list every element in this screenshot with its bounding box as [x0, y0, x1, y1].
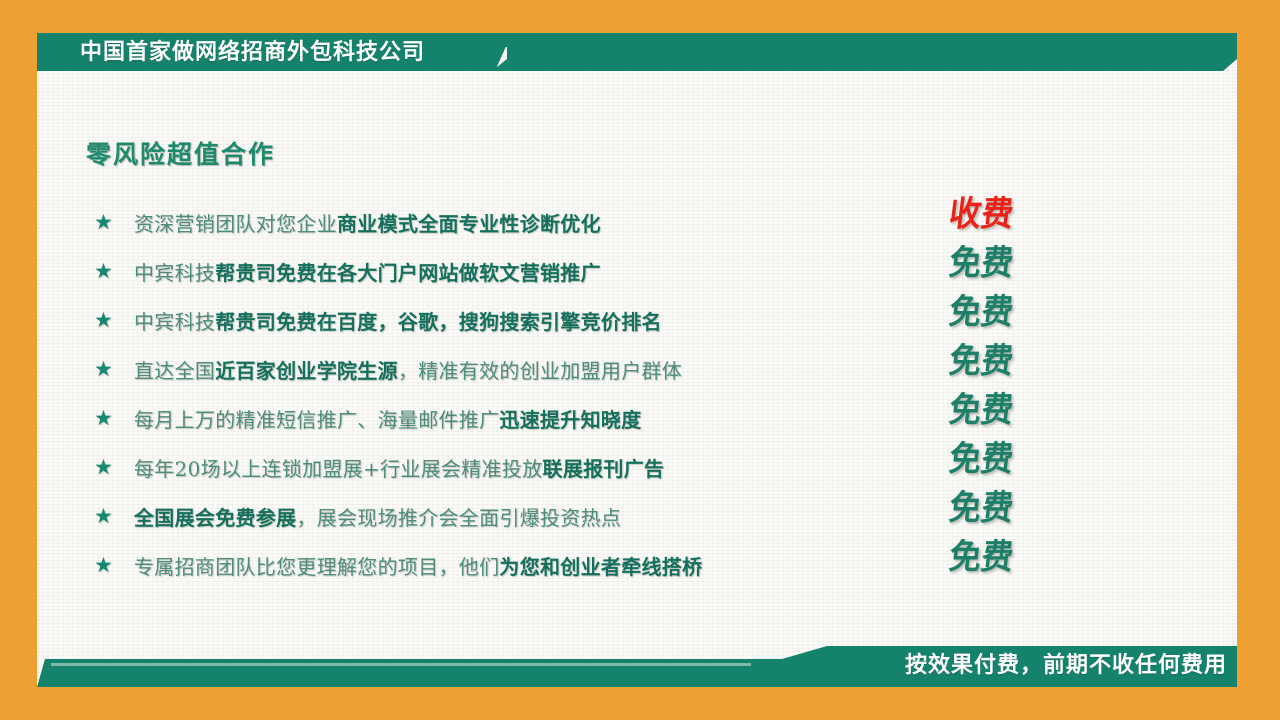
benefit-text-segment: 迅速提升知晓度: [499, 408, 641, 432]
benefit-text-segment: 每月上万的精准短信推广、海量邮件推广: [134, 408, 499, 432]
star-bullet-icon: ★: [86, 359, 134, 380]
price-badge-free: 免费: [947, 486, 1016, 529]
benefit-text-segment: 专属招商团队比您更理解您的项目，他们: [134, 555, 499, 579]
price-badge-paid: 收费: [947, 192, 1016, 235]
benefit-list-item: ★每月上万的精准短信推广、海量邮件推广迅速提升知晓度: [86, 394, 926, 443]
benefit-text-segment: 商业模式全面专业性诊断优化: [337, 212, 601, 236]
benefit-list-item: ★每年20场以上连锁加盟展+行业展会精准投放联展报刊广告: [86, 443, 926, 492]
benefit-list-item-text: 直达全国近百家创业学院生源，精准有效的创业加盟用户群体: [134, 355, 682, 384]
benefit-text-segment: 全国展会免费参展: [134, 506, 296, 530]
benefit-list: ★资深营销团队对您企业商业模式全面专业性诊断优化★中宾科技帮贵司免费在各大门户网…: [86, 198, 926, 590]
price-row: 免费: [952, 290, 1072, 339]
footer-text: 按效果付费，前期不收任何费用: [905, 649, 1227, 681]
benefit-list-item-text: 专属招商团队比您更理解您的项目，他们为您和创业者牵线搭桥: [134, 551, 702, 580]
star-bullet-icon: ★: [86, 408, 134, 429]
header-banner: 中国首家做网络招商外包科技公司: [37, 33, 1237, 85]
benefit-text-segment: 每年20场以上连锁加盟展+行业展会精准投放: [134, 457, 543, 481]
benefit-list-item-text: 全国展会免费参展，展会现场推介会全面引爆投资热点: [134, 502, 621, 531]
star-bullet-icon: ★: [86, 506, 134, 527]
price-badge-free: 免费: [947, 437, 1016, 480]
benefit-list-item: ★直达全国近百家创业学院生源，精准有效的创业加盟用户群体: [86, 345, 926, 394]
price-badge-free: 免费: [947, 290, 1016, 333]
benefit-text-segment: 近百家创业学院生源: [215, 359, 398, 383]
price-row: 免费: [952, 241, 1072, 290]
benefit-text-segment: 中宾科技: [134, 310, 215, 334]
benefit-text-segment: 帮贵司免费在百度，谷歌，搜狗搜索引擎竞价排名: [215, 310, 662, 334]
price-row: 免费: [952, 388, 1072, 437]
price-column: 收费免费免费免费免费免费免费免费: [952, 192, 1072, 584]
star-bullet-icon: ★: [86, 555, 134, 576]
header-title: 中国首家做网络招商外包科技公司: [80, 36, 425, 68]
price-row: 免费: [952, 535, 1072, 584]
benefit-text-segment: 为您和创业者牵线搭桥: [499, 555, 702, 579]
benefit-list-item-text: 每月上万的精准短信推广、海量邮件推广迅速提升知晓度: [134, 404, 642, 433]
benefit-text-segment: ，展会现场推介会全面引爆投资热点: [296, 506, 621, 530]
benefit-list-item-text: 每年20场以上连锁加盟展+行业展会精准投放联展报刊广告: [134, 453, 664, 482]
benefit-text-segment: 资深营销团队对您企业: [134, 212, 337, 236]
price-row: 免费: [952, 486, 1072, 535]
price-badge-free: 免费: [947, 388, 1016, 431]
benefit-list-item: ★中宾科技帮贵司免费在百度，谷歌，搜狗搜索引擎竞价排名: [86, 296, 926, 345]
star-bullet-icon: ★: [86, 310, 134, 331]
benefit-list-item: ★中宾科技帮贵司免费在各大门户网站做软文营销推广: [86, 247, 926, 296]
benefit-text-segment: 中宾科技: [134, 261, 215, 285]
price-row: 收费: [952, 192, 1072, 241]
benefit-list-item: ★资深营销团队对您企业商业模式全面专业性诊断优化: [86, 198, 926, 247]
section-title: 零风险超值合作: [86, 135, 275, 171]
benefit-text-segment: 直达全国: [134, 359, 215, 383]
price-row: 免费: [952, 339, 1072, 388]
star-bullet-icon: ★: [86, 457, 134, 478]
benefit-list-item: ★全国展会免费参展，展会现场推介会全面引爆投资热点: [86, 492, 926, 541]
benefit-list-item: ★专属招商团队比您更理解您的项目，他们为您和创业者牵线搭桥: [86, 541, 926, 590]
benefit-text-segment: 帮贵司免费在各大门户网站做软文营销推广: [215, 261, 601, 285]
star-bullet-icon: ★: [86, 261, 134, 282]
footer-banner: 按效果付费，前期不收任何费用: [37, 635, 1237, 687]
price-row: 免费: [952, 437, 1072, 486]
footer-accent-line: [51, 663, 751, 666]
benefit-list-item-text: 中宾科技帮贵司免费在各大门户网站做软文营销推广: [134, 257, 601, 286]
benefit-list-item-text: 资深营销团队对您企业商业模式全面专业性诊断优化: [134, 208, 601, 237]
benefit-text-segment: ，精准有效的创业加盟用户群体: [398, 359, 682, 383]
benefit-list-item-text: 中宾科技帮贵司免费在百度，谷歌，搜狗搜索引擎竞价排名: [134, 306, 662, 335]
price-badge-free: 免费: [947, 339, 1016, 382]
benefit-text-segment: 联展报刊广告: [543, 457, 665, 481]
price-badge-free: 免费: [947, 535, 1016, 578]
slide-canvas: 中国首家做网络招商外包科技公司 零风险超值合作 ★资深营销团队对您企业商业模式全…: [0, 0, 1280, 720]
star-bullet-icon: ★: [86, 212, 134, 233]
price-badge-free: 免费: [947, 241, 1016, 284]
